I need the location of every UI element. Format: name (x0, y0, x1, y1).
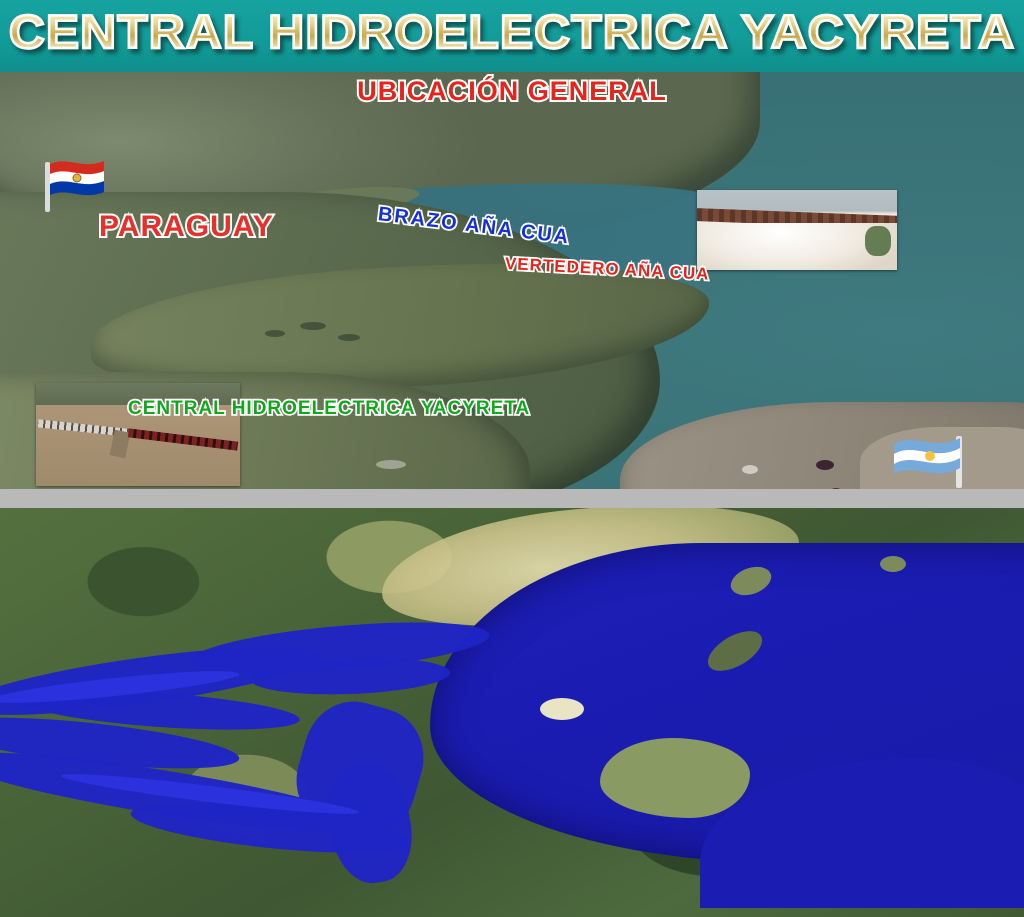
argentina-flag (890, 432, 974, 489)
ana-cua-spillway-photo (697, 190, 897, 270)
slide-root: CENTRAL HIDROELECTRICA YACYRETA (0, 0, 1024, 917)
reservoir-island (880, 556, 906, 572)
terrain-speck (338, 334, 360, 341)
terrain-speck (300, 322, 326, 330)
reservoir-island (600, 738, 750, 818)
title-banner: CENTRAL HIDROELECTRICA YACYRETA (0, 0, 1024, 72)
water-distribution-map: LO PRIMERO: COMO SE DISTRIBUYE EL AGUA A… (0, 508, 1024, 917)
label-paraguay: PARAGUAY (99, 210, 274, 244)
reservoir-shoal (540, 698, 584, 720)
page-title: CENTRAL HIDROELECTRICA YACYRETA (0, 4, 1024, 59)
terrain-speck (816, 460, 834, 470)
terrain-speck (742, 465, 758, 474)
terrain-speck (376, 460, 406, 469)
paraguay-flag (38, 154, 110, 214)
general-location-map: PARAGUAY BRAZO AÑA CUA VERTEDERO AÑA CUA… (0, 72, 1024, 489)
spillway-vegetation (865, 226, 891, 256)
label-central-hidroelectrica: CENTRAL HIDROELECTRICA YACYRETA (128, 398, 530, 420)
page-subtitle: UBICACIÓN GENERAL (0, 76, 1024, 107)
panel-divider (0, 489, 1024, 508)
terrain-speck (265, 330, 285, 337)
